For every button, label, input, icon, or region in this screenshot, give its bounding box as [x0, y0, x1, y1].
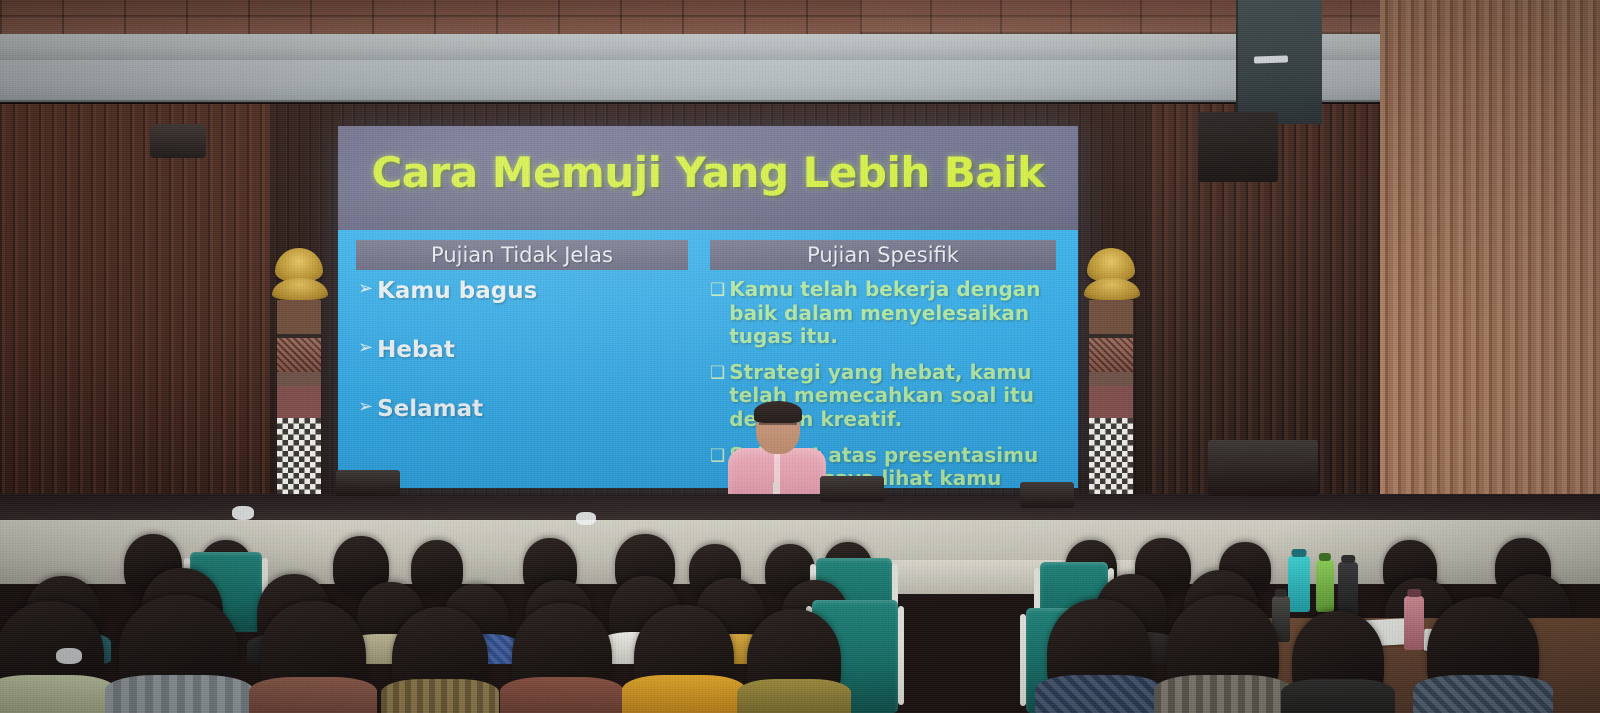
- audience-member: [628, 585, 740, 713]
- list-item: ➢ Hebat: [358, 337, 700, 364]
- face-mask-icon: [576, 512, 596, 525]
- list-item: ❑ Kamu telah bekerja dengan baik dalam m…: [710, 278, 1064, 349]
- ceiling-beam-lower: [0, 60, 1600, 102]
- gold-crown-tier-icon: [1084, 278, 1140, 300]
- audience-member: [112, 582, 246, 713]
- curtain-left-panel: [0, 104, 270, 504]
- batik-wrap: [1089, 338, 1133, 372]
- list-item-label: Hebat: [377, 337, 700, 364]
- chevron-arrow-bullet-icon: ➢: [358, 396, 373, 417]
- face-mask-icon: [56, 648, 82, 664]
- ceiling-beam-upper: [0, 34, 1600, 60]
- projection-screen: Cara Memuji Yang Lebih Baik Pujian Tidak…: [338, 126, 1078, 488]
- gold-umbrella-crown-icon: [1087, 248, 1135, 282]
- ceiling-duct-box-icon: [1236, 0, 1322, 124]
- list-item-label: Kamu telah bekerja dengan baik dalam men…: [729, 278, 1064, 349]
- presenter-hair: [754, 401, 802, 423]
- stage-light-fixture-icon: [150, 124, 206, 158]
- chevron-arrow-bullet-icon: ➢: [358, 337, 373, 358]
- column-header-specific-praise: Pujian Spesifik: [710, 240, 1056, 270]
- column-header-vague-praise: Pujian Tidak Jelas: [356, 240, 688, 270]
- duct-vent-slit: [1254, 55, 1288, 63]
- list-item: ➢ Selamat: [358, 396, 700, 423]
- balinese-pillar-right: [1084, 248, 1138, 500]
- slide-column-vague-praise: Pujian Tidak Jelas ➢ Kamu bagus ➢ Hebat …: [352, 230, 700, 488]
- audience-member: [1286, 593, 1390, 713]
- square-bullet-icon: ❑: [710, 444, 725, 466]
- list-item-label: Selamat: [377, 396, 700, 423]
- audience-member: [506, 585, 618, 713]
- seminar-hall-scene: Cara Memuji Yang Lebih Baik Pujian Tidak…: [0, 0, 1600, 713]
- audience-member: [386, 588, 494, 713]
- audience-member: [1420, 582, 1546, 713]
- audience-member: [742, 591, 846, 713]
- gold-crown-tier-icon: [272, 278, 328, 300]
- audience-member: [0, 582, 110, 713]
- batik-wrap: [277, 338, 321, 372]
- glasses-icon: [759, 423, 797, 431]
- list-item-label: Kamu bagus: [377, 278, 700, 305]
- chevron-arrow-bullet-icon: ➢: [358, 278, 373, 299]
- list-item: ➢ Kamu bagus: [358, 278, 700, 305]
- slide-body: Pujian Tidak Jelas ➢ Kamu bagus ➢ Hebat …: [338, 230, 1078, 488]
- slide-title: Cara Memuji Yang Lebih Baik: [338, 148, 1078, 197]
- gold-umbrella-crown-icon: [275, 248, 323, 282]
- square-bullet-icon: ❑: [710, 361, 725, 383]
- audience-row-near: [0, 582, 1600, 713]
- audience-member: [1160, 582, 1286, 713]
- audience-member: [254, 582, 372, 713]
- square-bullet-icon: ❑: [710, 278, 725, 300]
- bullet-list-vague-praise: ➢ Kamu bagus ➢ Hebat ➢ Selamat: [352, 278, 700, 423]
- hanging-speaker-box-icon: [1198, 112, 1278, 182]
- wood-slat-wall: [1380, 0, 1600, 560]
- balinese-pillar-left: [272, 248, 326, 500]
- face-mask-icon: [232, 506, 254, 520]
- audience-member: [1040, 582, 1158, 713]
